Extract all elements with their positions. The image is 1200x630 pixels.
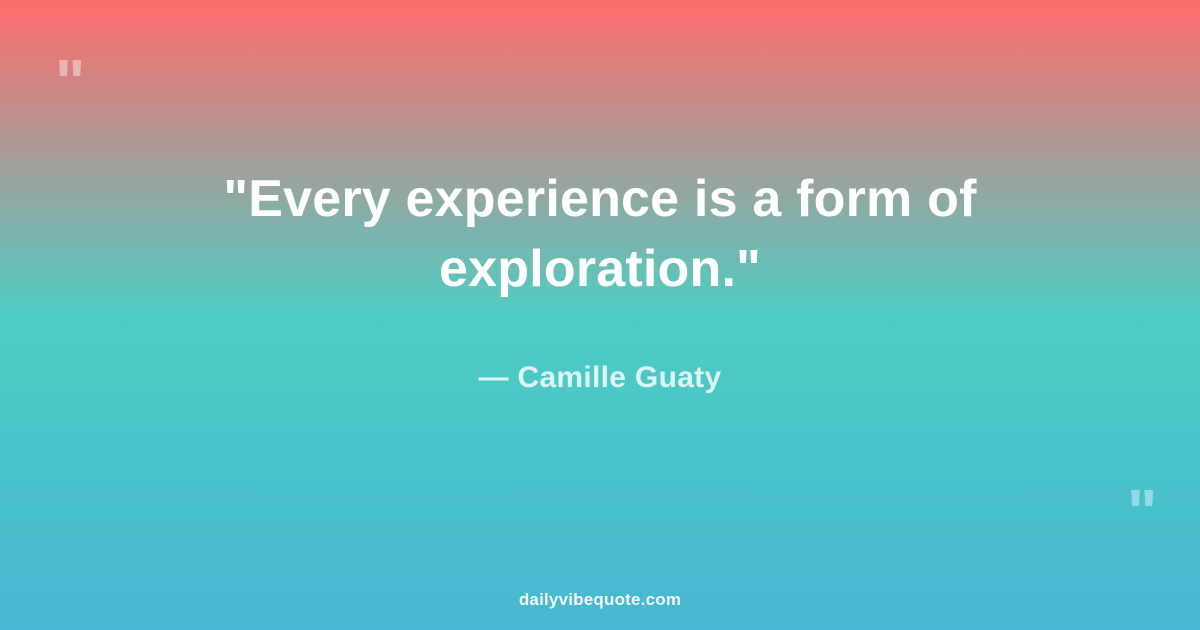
quote-content: "Every experience is a form of explorati… — [0, 0, 1200, 630]
site-footer-watermark: dailyvibequote.com — [0, 590, 1200, 610]
quote-card: " "Every experience is a form of explora… — [0, 0, 1200, 630]
quote-author: — Camille Guaty — [479, 360, 722, 396]
decorative-close-quote-icon: " — [1127, 480, 1157, 544]
quote-text: "Every experience is a form of explorati… — [150, 164, 1050, 304]
